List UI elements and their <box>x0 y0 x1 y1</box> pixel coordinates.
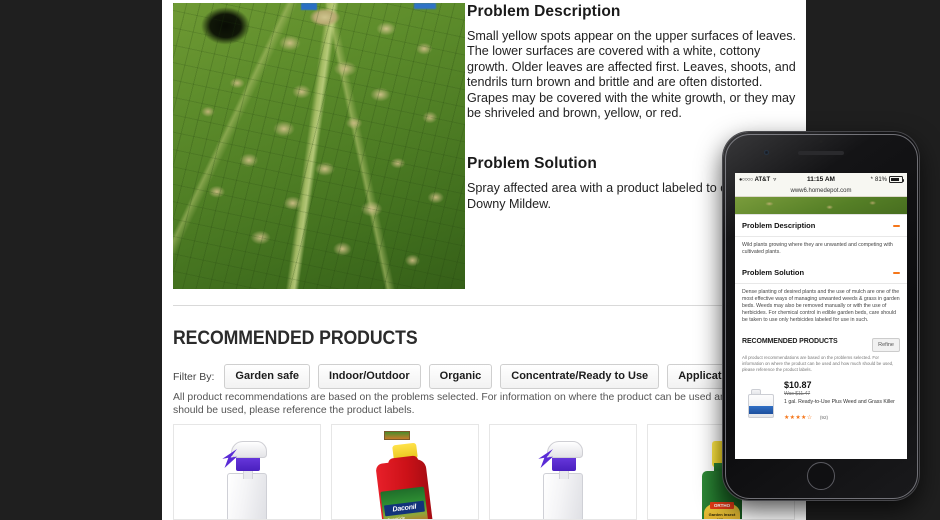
mobile-problem-description-text: Wild plants growing where they are unwan… <box>735 237 907 262</box>
daconil-fungicide-bottle-image: Daconil Fungicide <box>376 441 434 520</box>
leaf-texture <box>173 3 465 289</box>
mobile-product-disclaimer: All product recommendations are based on… <box>735 354 907 378</box>
mobile-product-image <box>742 380 778 420</box>
battery-percent-label: 81% <box>875 177 887 183</box>
mobile-section-header-problem-solution[interactable]: Problem Solution <box>735 262 907 283</box>
product-card-list: COPPER FUNGICIDE Daconil Fungicid <box>173 424 795 520</box>
minus-icon[interactable] <box>893 225 900 227</box>
minus-icon[interactable] <box>893 272 900 274</box>
earpiece-speaker <box>798 151 844 155</box>
mobile-url-bar[interactable]: www6.homedepot.com <box>735 186 907 197</box>
home-button[interactable] <box>807 462 835 490</box>
front-camera-icon <box>764 150 769 155</box>
filter-bar: Filter By: Garden safe Indoor/Outdoor Or… <box>173 364 791 389</box>
mobile-product-was-price: Was $11.47 <box>784 391 895 397</box>
desktop-page: Problem Description Small yellow spots a… <box>162 0 806 520</box>
wifi-icon: ▿ <box>773 176 776 183</box>
ortho-sub-text: Garden Insect Killer <box>706 512 738 520</box>
mobile-recommended-header: RECOMMENDED PRODUCTS Refine <box>735 330 907 354</box>
daconil-sub-text: Fungicide <box>387 515 405 520</box>
mobile-section-header-problem-description[interactable]: Problem Description <box>735 215 907 237</box>
phone-screen: ●○○○○ AT&T ▿ 11:15 AM * 81% www6.homedep… <box>735 173 907 459</box>
mobile-problem-solution-heading: Problem Solution <box>742 268 804 277</box>
filter-by-label: Filter By: <box>173 371 214 383</box>
carrier-label: AT&T <box>755 177 771 183</box>
status-clock: 11:15 AM <box>807 176 835 183</box>
grape-leaf-downy-mildew-photo <box>173 3 465 289</box>
battery-icon <box>889 176 903 183</box>
section-divider <box>173 305 795 306</box>
copper-fungicide-bottle-image: COPPER FUNGICIDE <box>219 441 275 520</box>
filter-chip-concentrate-ready-to-use[interactable]: Concentrate/Ready to Use <box>500 364 659 389</box>
rose-spray-bottle-image: Rose <box>535 441 591 520</box>
leaf-background-sky <box>301 3 317 10</box>
leaf-background-sky-2 <box>414 3 436 9</box>
mobile-problem-description-heading: Problem Description <box>742 221 815 230</box>
filter-chip-organic[interactable]: Organic <box>429 364 493 389</box>
problem-description-text: Small yellow spots appear on the upper s… <box>467 29 797 121</box>
filter-chip-indoor-outdoor[interactable]: Indoor/Outdoor <box>318 364 421 389</box>
mobile-recommended-products-title: RECOMMENDED PRODUCTS <box>742 338 838 345</box>
product-card-copper-fungicide[interactable]: COPPER FUNGICIDE <box>173 424 321 520</box>
star-rating-icon: ★★★★☆ <box>784 415 812 421</box>
mobile-product-list-item[interactable]: $10.87 Was $11.47 1 gal. Ready-to-Use Pl… <box>735 378 907 428</box>
mobile-product-info: $10.87 Was $11.47 1 gal. Ready-to-Use Pl… <box>784 380 895 424</box>
recommended-products-title: RECOMMENDED PRODUCTS <box>173 328 418 350</box>
screenshot-root: Problem Description Small yellow spots a… <box>0 0 940 520</box>
mobile-status-bar: ●○○○○ AT&T ▿ 11:15 AM * 81% <box>735 173 907 186</box>
proximity-sensor-icon <box>820 140 823 143</box>
signal-strength-icon: ●○○○○ <box>739 177 753 183</box>
product-disclaimer: All product recommendations are based on… <box>173 392 793 417</box>
status-right-group: * 81% <box>871 176 903 183</box>
bluetooth-icon: * <box>871 177 873 183</box>
mobile-product-rating-row: ★★★★☆ (92) <box>784 406 895 424</box>
iphone-mockup: ●○○○○ AT&T ▿ 11:15 AM * 81% www6.homedep… <box>723 132 919 500</box>
mobile-problem-solution-text: Dense planting of desired plants and the… <box>735 284 907 330</box>
ortho-brand-text: ORTHO <box>710 502 734 509</box>
refine-button[interactable]: Refine <box>872 338 900 352</box>
mobile-product-price: $10.87 <box>784 380 895 390</box>
mobile-review-count: (92) <box>820 415 828 420</box>
mobile-hero-photo <box>735 197 907 215</box>
mobile-product-description: 1 gal. Ready-to-Use Plus Weed and Grass … <box>784 399 895 406</box>
filter-chip-garden-safe[interactable]: Garden safe <box>224 364 310 389</box>
product-card-rose-spray[interactable]: Rose <box>489 424 637 520</box>
problem-description-heading: Problem Description <box>467 3 797 21</box>
product-card-daconil[interactable]: Daconil Fungicide <box>331 424 479 520</box>
